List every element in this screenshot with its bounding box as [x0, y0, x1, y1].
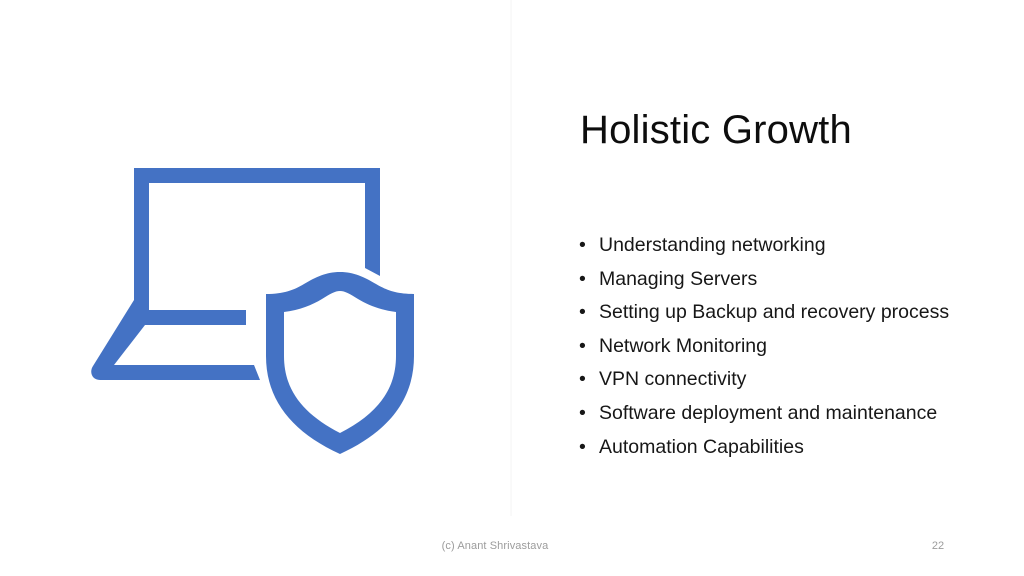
laptop-shield-icon [88, 160, 428, 460]
bullet-marker-icon: • [579, 366, 586, 392]
list-item-label: Network Monitoring [599, 333, 767, 359]
vertical-divider [510, 0, 512, 516]
laptop-shield-graphic [88, 160, 428, 460]
content-column: Holistic Growth • Understanding networki… [578, 0, 1008, 576]
list-item-label: Managing Servers [599, 266, 757, 292]
bullet-marker-icon: • [579, 232, 586, 258]
page-title: Holistic Growth [580, 107, 852, 153]
list-item: • Managing Servers [578, 266, 1008, 300]
list-item-label: Software deployment and maintenance [599, 400, 937, 426]
bullet-marker-icon: • [579, 400, 586, 426]
bullet-marker-icon: • [579, 333, 586, 359]
bullet-marker-icon: • [579, 434, 586, 460]
list-item: • Network Monitoring [578, 333, 1008, 367]
list-item: • Software deployment and maintenance [578, 400, 1008, 434]
footer-credit: (c) Anant Shrivastava [0, 540, 990, 552]
list-item: • Automation Capabilities [578, 434, 1008, 468]
bullet-marker-icon: • [579, 266, 586, 292]
list-item: • VPN connectivity [578, 366, 1008, 400]
footer-page-number: 22 [906, 540, 970, 552]
bullet-marker-icon: • [579, 299, 586, 325]
list-item: • Understanding networking [578, 232, 1008, 266]
list-item-label: Automation Capabilities [599, 434, 804, 460]
shield-outline-path [266, 272, 414, 454]
list-item-label: Understanding networking [599, 232, 826, 258]
slide: Holistic Growth • Understanding networki… [0, 0, 1024, 576]
list-item-label: VPN connectivity [599, 366, 746, 392]
bullet-list: • Understanding networking • Managing Se… [578, 232, 1008, 467]
list-item-label: Setting up Backup and recovery process [599, 299, 949, 325]
list-item: • Setting up Backup and recovery process [578, 299, 1008, 333]
